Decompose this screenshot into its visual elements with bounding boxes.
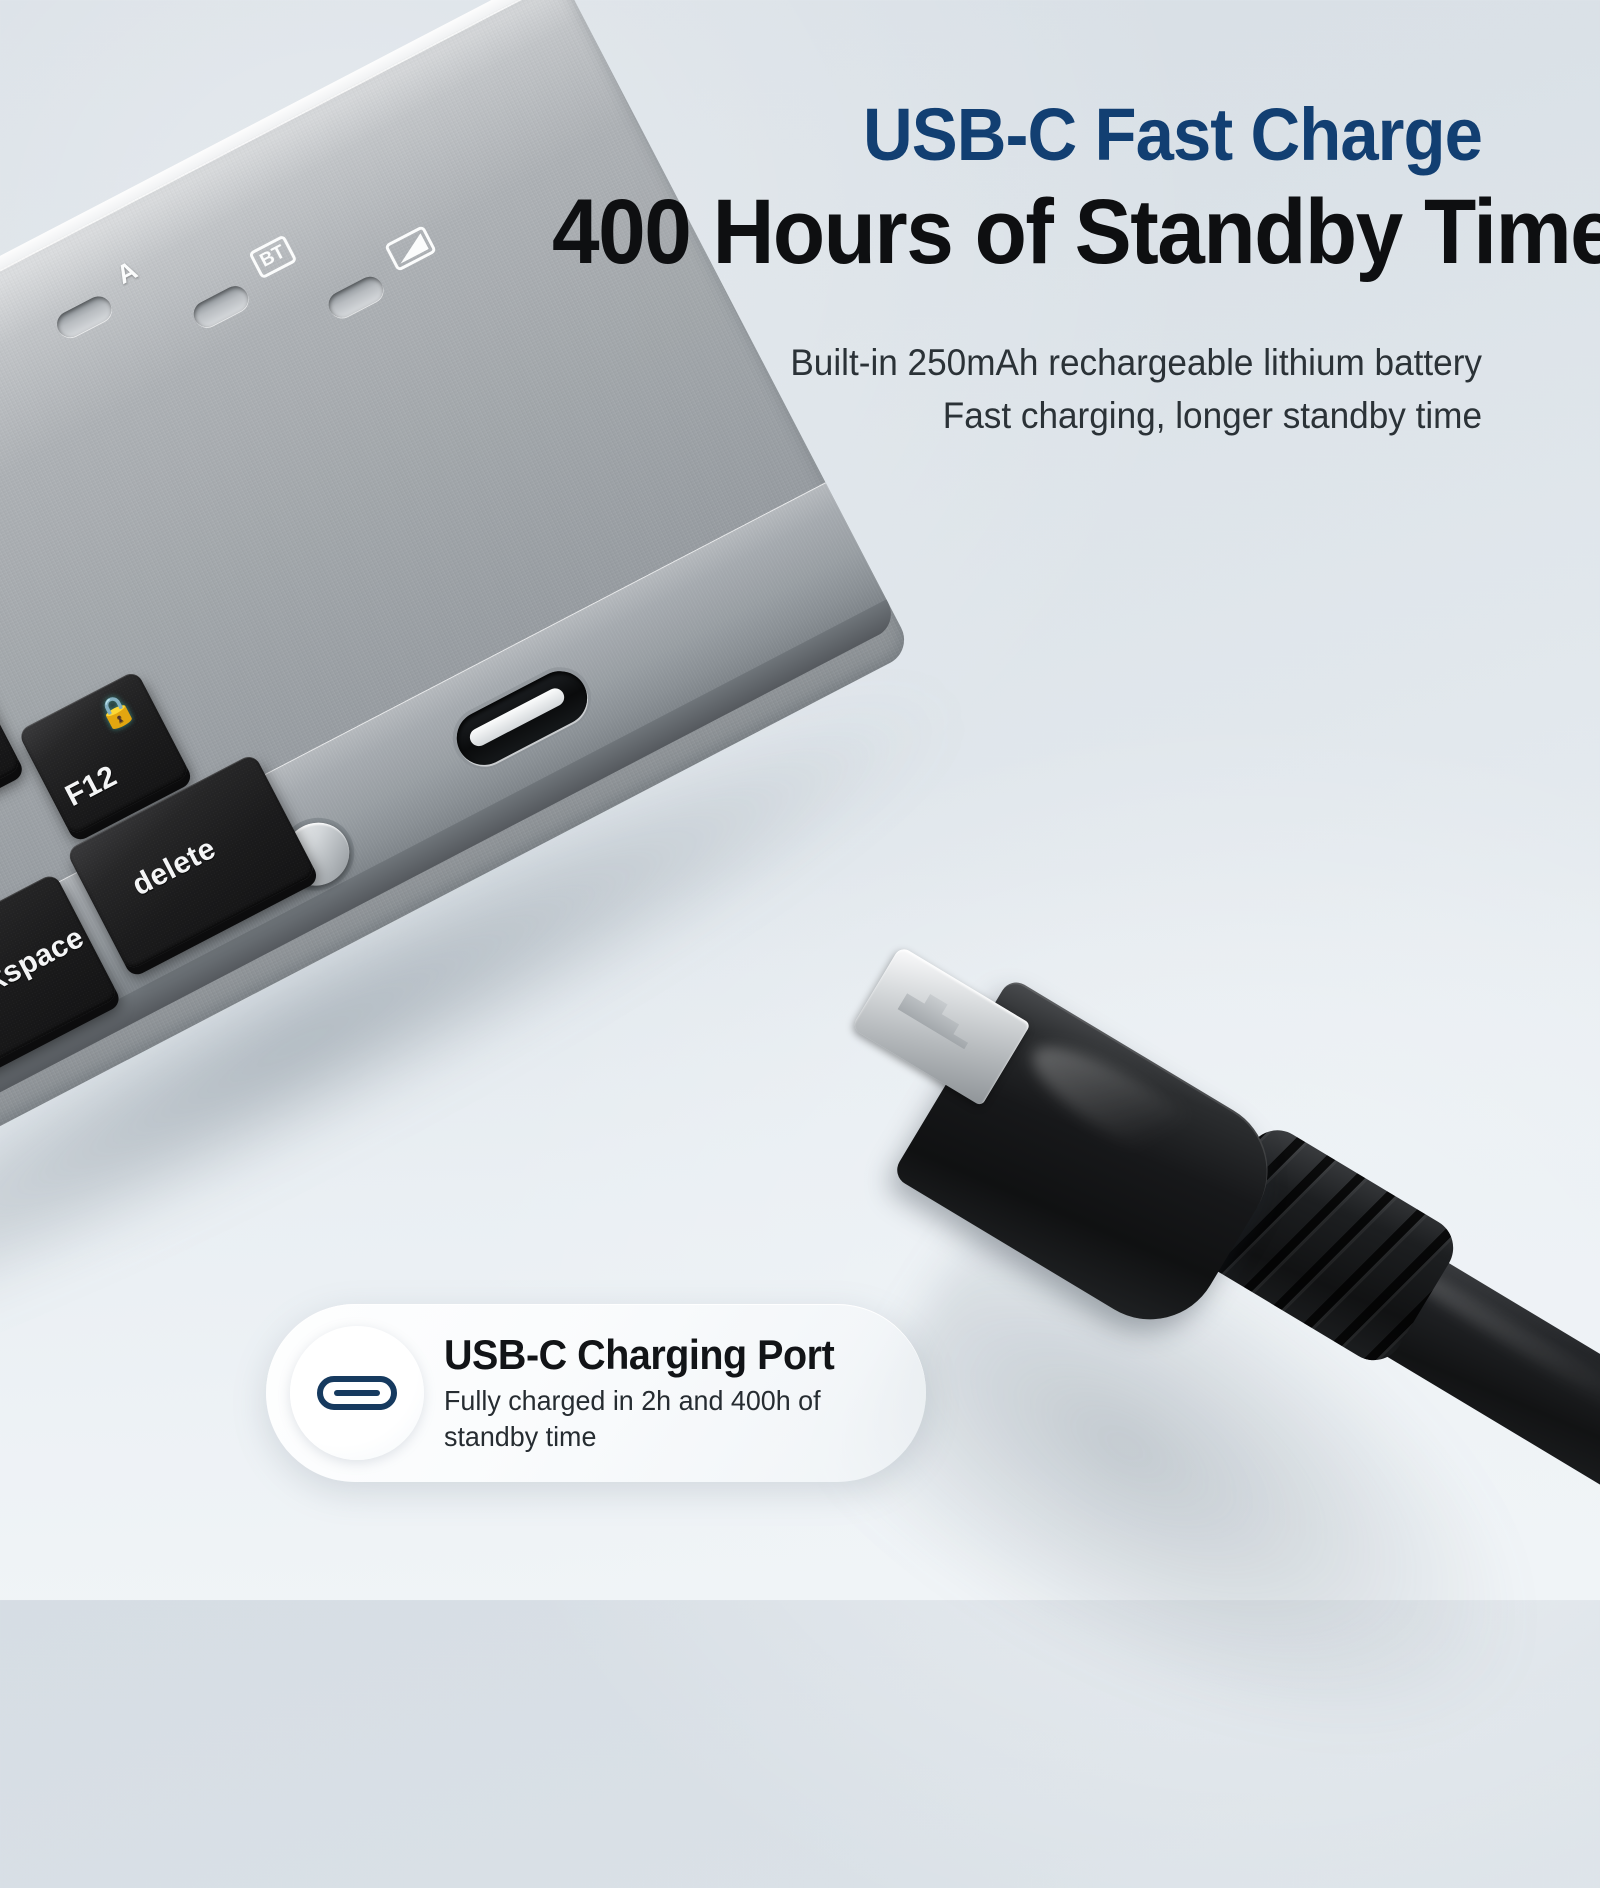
subtext-line-2: Fast charging, longer standby time: [532, 389, 1482, 443]
usb-c-port-icon: [317, 1376, 397, 1410]
headline-subtext: Built-in 250mAh rechargeable lithium bat…: [532, 336, 1482, 443]
badge-text: USB-C Charging Port Fully charged in 2h …: [444, 1331, 892, 1456]
feature-callout-badge: USB-C Charging Port Fully charged in 2h …: [266, 1304, 926, 1482]
product-marketing-image: A BT ⏵ F8 ⏭ F9 ▷ F10 ▼: [0, 0, 1600, 1600]
headline-block: USB-C Fast Charge 400 Hours of Standby T…: [482, 96, 1482, 443]
badge-subtitle: Fully charged in 2h and 400h of standby …: [444, 1383, 874, 1456]
badge-icon-circle: [290, 1326, 424, 1460]
badge-title: USB-C Charging Port: [444, 1331, 865, 1379]
lock-icon: 🔒: [93, 691, 140, 735]
subtext-line-1: Built-in 250mAh rechargeable lithium bat…: [532, 336, 1482, 390]
key-f11[interactable]: F11 🔊: [0, 664, 22, 828]
headline-eyebrow: USB-C Fast Charge: [552, 96, 1482, 174]
page-title: 400 Hours of Standby Time: [552, 182, 1482, 283]
usb-c-charging-cable: [855, 960, 1600, 1620]
